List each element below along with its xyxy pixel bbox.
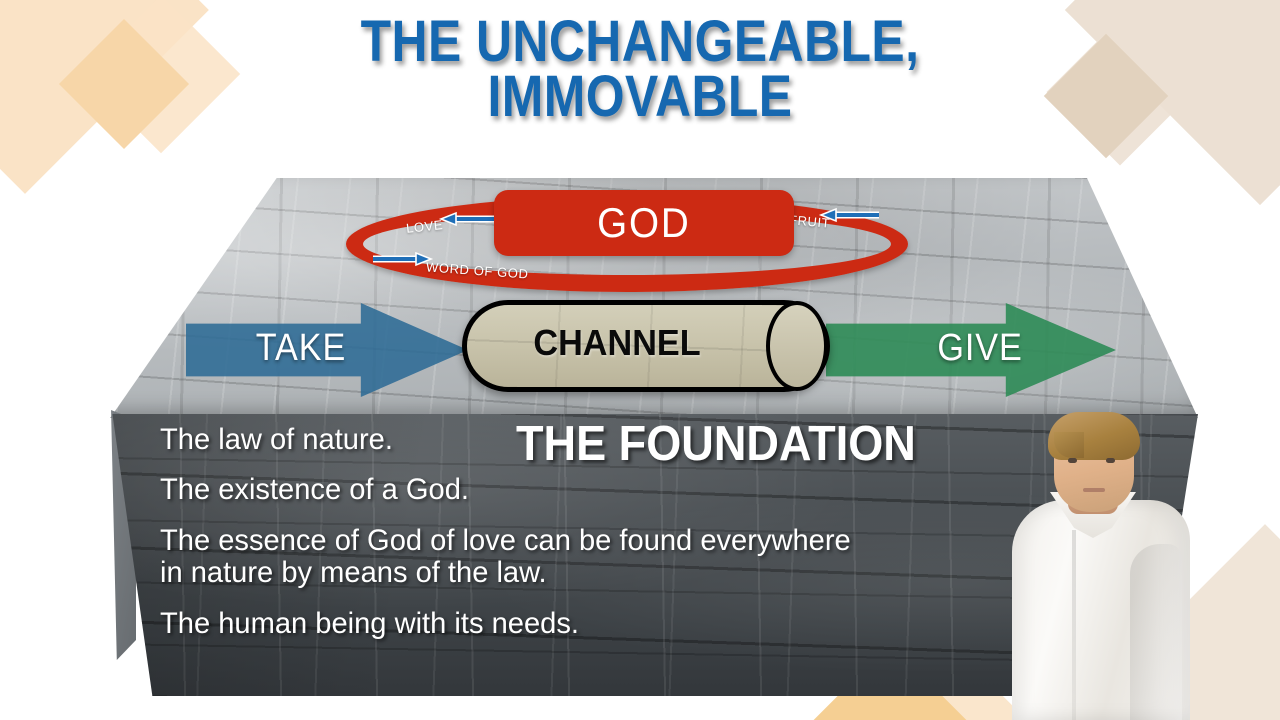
foundation-list-item-1: The law of nature. xyxy=(160,424,897,456)
slide-title: THE UNCHANGEABLE, IMMOVABLE xyxy=(90,14,1191,124)
presenter-eye-right xyxy=(1106,458,1115,463)
slide-title-line-2: IMMOVABLE xyxy=(90,69,1191,124)
foundation-list-item-2: The existence of a God. xyxy=(160,474,897,506)
word-of-god-arrow-icon xyxy=(372,252,432,264)
god-box: GOD xyxy=(494,190,794,256)
channel-label: CHANNEL xyxy=(470,322,765,364)
slide-title-line-1: THE UNCHANGEABLE, xyxy=(90,14,1191,69)
channel-cylinder-cap xyxy=(766,301,828,391)
love-arrow-icon xyxy=(440,212,498,224)
presenter-eye-left xyxy=(1068,458,1077,463)
god-label: GOD xyxy=(597,199,691,247)
take-label: TAKE xyxy=(198,327,405,370)
presenter-photo xyxy=(1006,414,1206,720)
foundation-list-item-4: The human being with its needs. xyxy=(160,608,897,640)
foundation-list: The law of nature. The existence of a Go… xyxy=(160,424,920,640)
presenter-hair xyxy=(1048,412,1140,460)
presenter-mouth xyxy=(1083,488,1105,492)
give-label: GIVE xyxy=(890,327,1070,370)
slide-canvas: THE UNCHANGEABLE, IMMOVABLE LOVE FRUIT xyxy=(0,0,1280,720)
channel-cylinder: CHANNEL xyxy=(462,300,830,392)
foundation-list-item-3: The essence of God of love can be found … xyxy=(160,525,897,590)
